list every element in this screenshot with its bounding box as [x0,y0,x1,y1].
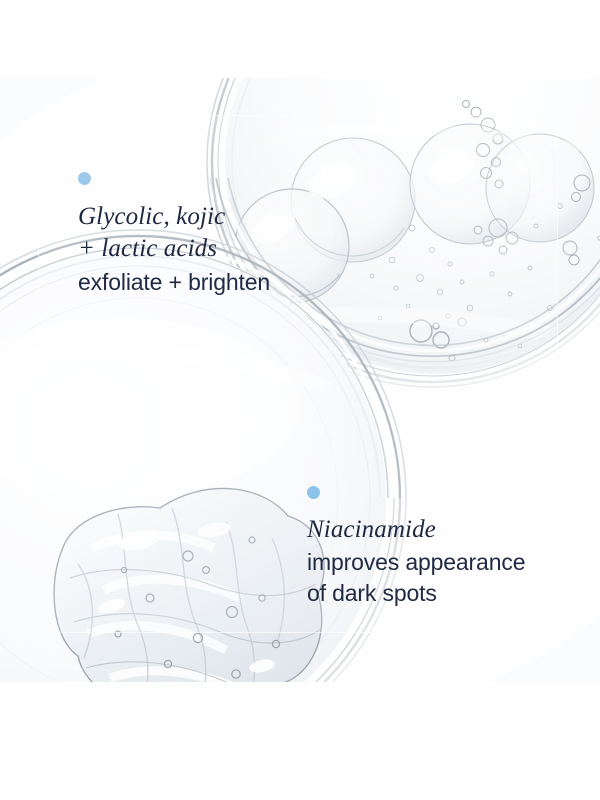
callout-niacinamide: Niacinamide improves appearance of dark … [307,486,577,608]
bullet-dot-icon [78,172,91,185]
callout-niacinamide-sans-line-1: improves appearance [307,548,577,577]
callout-niacinamide-serif-line-1: Niacinamide [307,514,577,546]
callout-acids-sans-line-1: exfoliate + brighten [78,268,338,297]
product-ingredient-callout-image: Glycolic, kojic + lactic acids exfoliate… [0,0,600,800]
callout-acids-serif-line-1: Glycolic, kojic [78,201,338,233]
callout-acids: Glycolic, kojic + lactic acids exfoliate… [78,172,338,297]
callout-acids-serif-line-2: + lactic acids [78,233,338,265]
callout-niacinamide-sans-line-2: of dark spots [307,579,577,608]
bullet-dot-icon [307,486,320,499]
